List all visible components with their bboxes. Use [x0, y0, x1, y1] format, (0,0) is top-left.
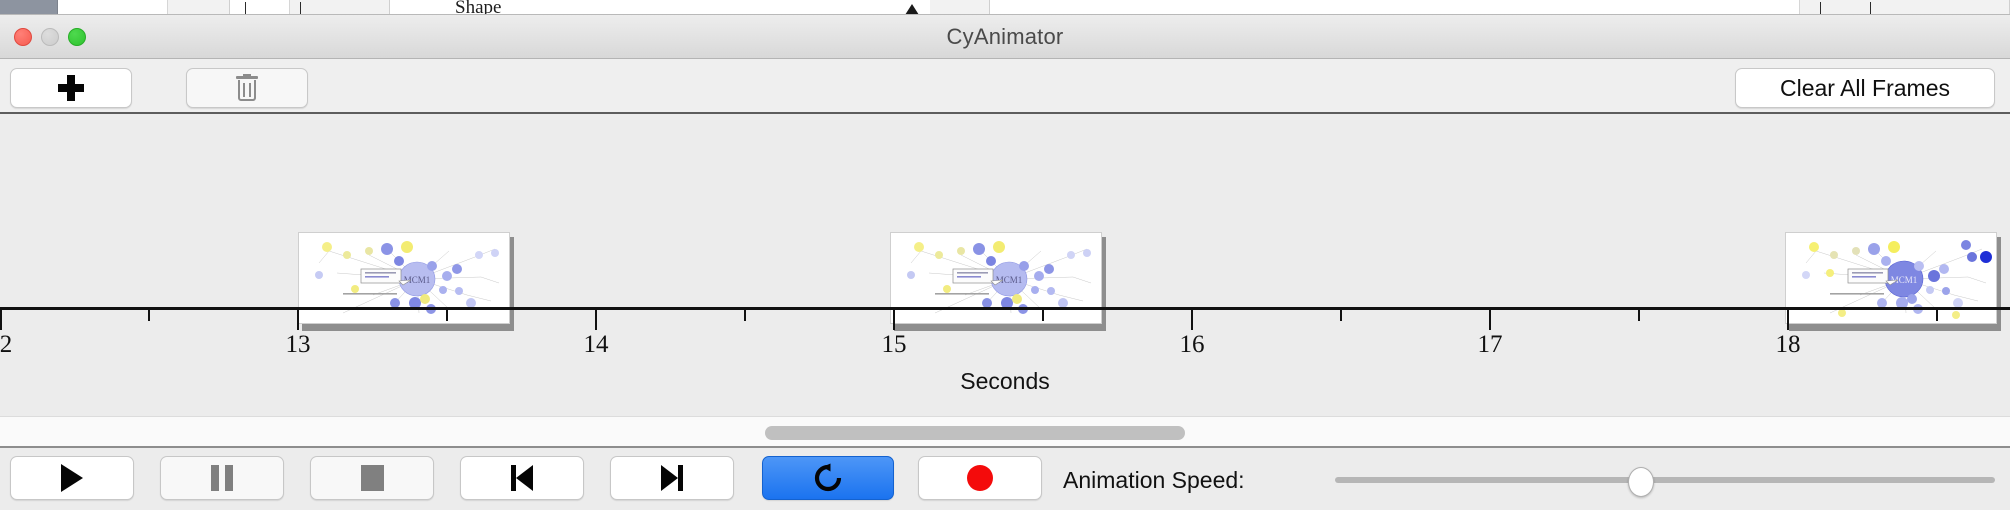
timeline-panel[interactable]: MCM1	[0, 116, 2010, 416]
axis-tick-minor	[1340, 310, 1342, 321]
skip-forward-icon	[659, 465, 685, 491]
bg-chunk	[230, 0, 290, 15]
scrollbar-thumb[interactable]	[765, 426, 1185, 440]
background-window-strip: Shape	[0, 0, 2010, 15]
stop-button[interactable]	[310, 456, 434, 500]
stop-icon	[361, 465, 384, 491]
axis-tick-minor	[1638, 310, 1640, 321]
timeline-frame-thumbnail[interactable]: MCM1	[890, 232, 1104, 328]
animation-speed-slider[interactable]	[1335, 450, 1995, 510]
bg-chunk	[58, 0, 168, 15]
axis-tick-major	[893, 310, 895, 330]
clear-all-frames-button[interactable]: Clear All Frames	[1735, 68, 1995, 108]
axis-tick-major	[595, 310, 597, 330]
play-button[interactable]	[10, 456, 134, 500]
slider-track[interactable]	[1335, 477, 1995, 483]
axis-tick-label: 16	[1180, 331, 1205, 359]
playback-toolbar: Animation Speed:	[0, 450, 2010, 510]
axis-tick-major	[1191, 310, 1193, 330]
axis-tick-label: 17	[1478, 331, 1503, 359]
skip-forward-button[interactable]	[610, 456, 734, 500]
bg-window-label: Shape	[455, 0, 501, 15]
axis-title: Seconds	[0, 368, 2010, 395]
loop-button[interactable]	[762, 456, 894, 500]
animation-speed-label: Animation Speed:	[1063, 450, 1245, 510]
frame-network-image: MCM1	[298, 232, 510, 324]
timeline-scrollbar[interactable]	[0, 416, 2010, 448]
title-bar: CyAnimator	[0, 15, 2010, 59]
bg-tick	[1870, 2, 1871, 15]
bg-tick	[1820, 2, 1821, 15]
axis-tick-minor	[446, 310, 448, 321]
axis-tick-major	[0, 310, 2, 330]
skip-back-icon	[509, 465, 535, 491]
cyanimator-window: Shape CyAnimator Clear All Frames	[0, 0, 2010, 510]
frame-network-image: MCM1	[890, 232, 1102, 324]
axis-tick-label: 14	[584, 331, 609, 359]
axis-tick-minor	[148, 310, 150, 321]
bg-arrow-glyph	[905, 4, 919, 15]
axis-tick-label: 18	[1776, 331, 1801, 359]
add-frame-button[interactable]	[10, 68, 132, 108]
bg-chunk	[0, 0, 58, 15]
pause-icon	[211, 465, 233, 491]
timeline-frame-thumbnail[interactable]: MCM1	[1785, 232, 1999, 328]
trash-icon	[235, 74, 259, 102]
bg-chunk	[1800, 0, 2010, 15]
axis-tick-label: 15	[882, 331, 907, 359]
axis-tick-label: 13	[286, 331, 311, 359]
axis-tick-major	[1787, 310, 1789, 330]
plus-icon	[58, 75, 84, 101]
delete-frame-button[interactable]	[186, 68, 308, 108]
bg-chunk	[930, 0, 990, 15]
record-icon	[967, 465, 993, 491]
loop-icon	[813, 463, 843, 493]
record-button[interactable]	[918, 456, 1042, 500]
window-title: CyAnimator	[0, 15, 2010, 59]
axis-tick-minor	[1936, 310, 1938, 321]
axis-tick-major	[1489, 310, 1491, 330]
axis-tick-major	[297, 310, 299, 330]
bg-tick	[245, 2, 246, 15]
play-icon	[61, 464, 83, 492]
slider-thumb[interactable]	[1628, 467, 1654, 497]
bg-chunk	[990, 0, 1800, 15]
skip-back-button[interactable]	[460, 456, 584, 500]
axis-tick-minor	[744, 310, 746, 321]
bg-chunk	[290, 0, 390, 15]
frame-toolbar: Clear All Frames	[0, 59, 2010, 114]
timeline-frame-thumbnail[interactable]: MCM1	[298, 232, 512, 328]
bg-chunk	[168, 0, 230, 15]
timeline-axis	[0, 307, 2010, 310]
pause-button[interactable]	[160, 456, 284, 500]
axis-tick-label: 2	[0, 331, 12, 359]
axis-tick-minor	[1042, 310, 1044, 321]
bg-tick	[300, 2, 301, 15]
frame-network-image: MCM1	[1785, 232, 1997, 324]
